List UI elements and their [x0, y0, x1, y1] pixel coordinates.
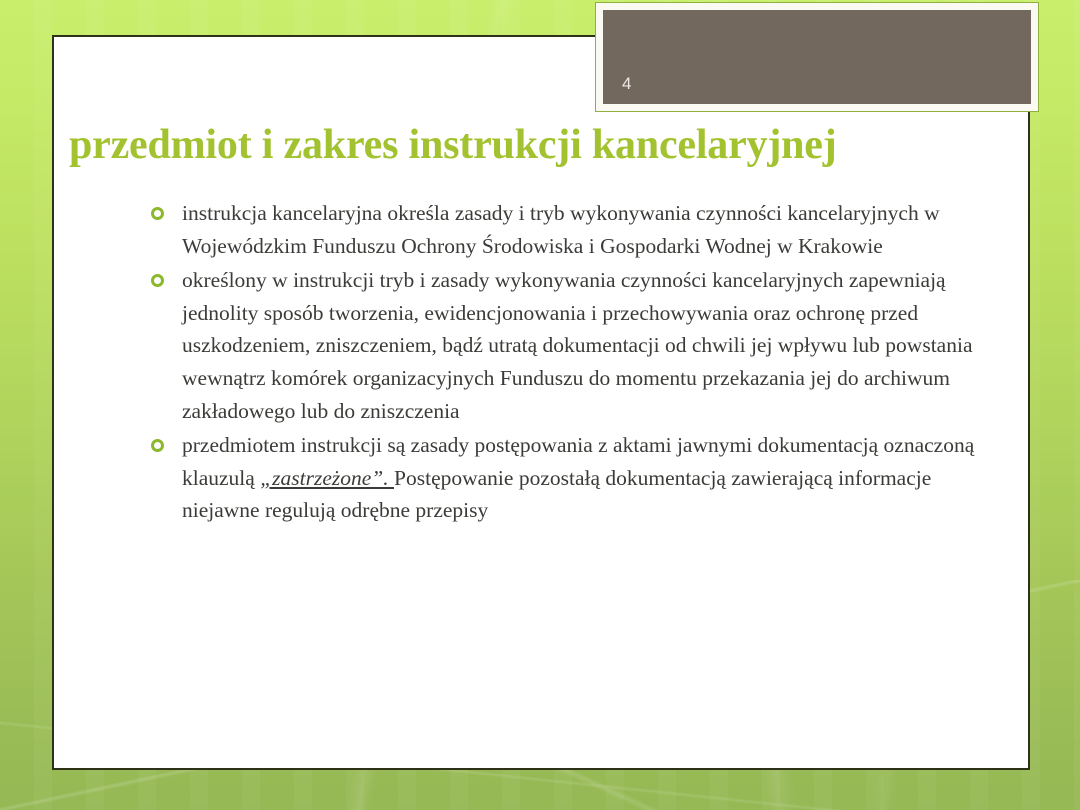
list-item-text: instrukcja kancelaryjna określa zasady i… — [182, 201, 940, 258]
bullet-list: instrukcja kancelaryjna określa zasady i… — [150, 197, 1006, 529]
slide-number: 4 — [603, 75, 632, 104]
bullet-ring-icon — [151, 274, 164, 287]
bullet-ring-icon — [151, 207, 164, 220]
slide-content-panel: 4 przedmiot i zakres instrukcji kancelar… — [52, 35, 1030, 770]
list-item: przedmiotem instrukcji są zasady postępo… — [150, 429, 1006, 527]
bullet-ring-icon — [151, 439, 164, 452]
page-title: przedmiot i zakres instrukcji kancelaryj… — [69, 121, 1009, 169]
list-item-text-emphasis: „zastrzeżone”. — [260, 466, 394, 490]
slide-number-plate: 4 — [595, 2, 1039, 112]
slide-number-box: 4 — [603, 10, 1031, 104]
list-item: określony w instrukcji tryb i zasady wyk… — [150, 264, 1006, 427]
list-item-text: określony w instrukcji tryb i zasady wyk… — [182, 268, 972, 422]
list-item: instrukcja kancelaryjna określa zasady i… — [150, 197, 1006, 262]
